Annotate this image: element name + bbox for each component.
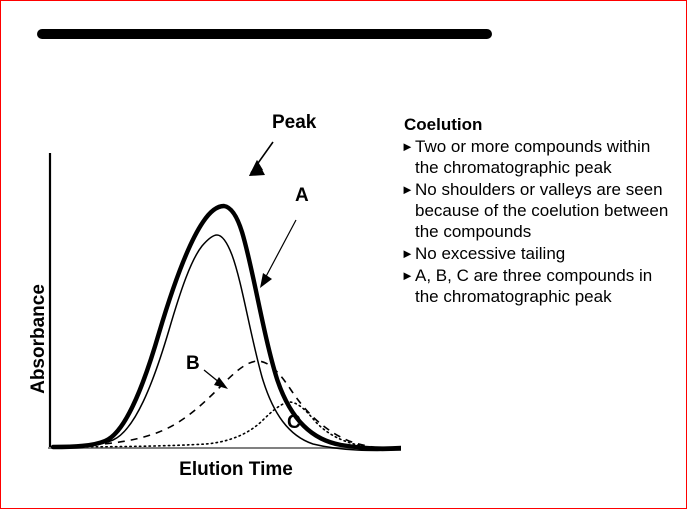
- curve-label-peak: Peak: [272, 113, 316, 132]
- chromatogram-chart: Absorbance Elution Time Peak A B C: [1, 96, 401, 496]
- curve-component-a: [53, 235, 401, 450]
- peak-annotation-arrow: [249, 142, 273, 176]
- curve-component-b: [53, 361, 401, 449]
- triangle-bullet-icon: ►: [401, 265, 415, 286]
- bullet-item: ► No shoulders or valleys are seen becau…: [401, 179, 677, 242]
- bullet-item: ► A, B, C are three compounds in the chr…: [401, 265, 677, 307]
- panel-heading: Coelution: [404, 115, 677, 135]
- bullet-text: No shoulders or valleys are seen because…: [415, 179, 677, 242]
- component-a-annotation-arrow: [260, 220, 296, 288]
- bullet-item: ► Two or more compounds within the chrom…: [401, 136, 677, 178]
- curve-composite-peak: [53, 206, 401, 449]
- slide-canvas: Absorbance Elution Time Peak A B C Coelu…: [0, 0, 687, 509]
- curve-label-c: C: [287, 413, 301, 432]
- component-b-annotation-arrow: [204, 370, 228, 389]
- curve-label-b: B: [186, 354, 200, 373]
- triangle-bullet-icon: ►: [401, 136, 415, 157]
- chart-plot-area: [1, 96, 401, 496]
- bullet-text: Two or more compounds within the chromat…: [415, 136, 677, 178]
- curve-label-a: A: [295, 186, 309, 205]
- bullet-item: ► No excessive tailing: [401, 243, 677, 264]
- bullet-text: A, B, C are three compounds in the chrom…: [415, 265, 677, 307]
- y-axis-title: Absorbance: [28, 279, 50, 399]
- x-axis-title: Elution Time: [121, 459, 351, 481]
- bullet-text: No excessive tailing: [415, 243, 677, 264]
- triangle-bullet-icon: ►: [401, 243, 415, 264]
- title-divider-rule: [37, 29, 492, 39]
- coelution-text-panel: Coelution ► Two or more compounds within…: [401, 115, 677, 308]
- triangle-bullet-icon: ►: [401, 179, 415, 200]
